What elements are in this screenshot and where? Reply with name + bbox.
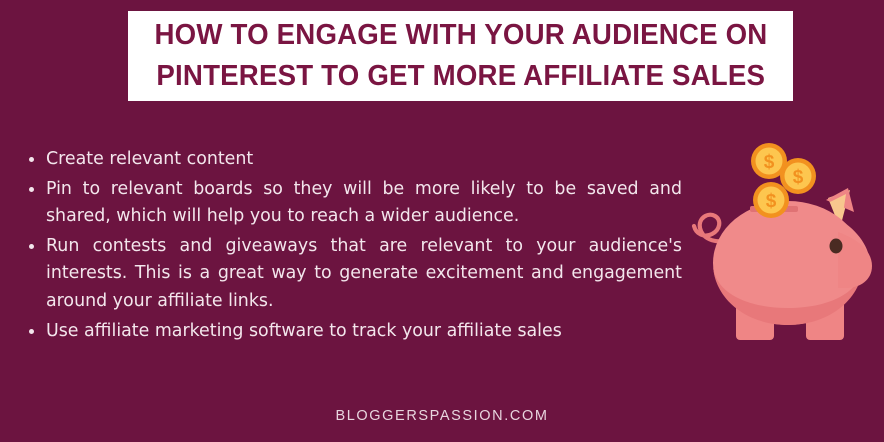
coin-icon: $ <box>753 182 789 218</box>
svg-text:$: $ <box>764 152 775 173</box>
list-item: Create relevant content <box>22 146 682 174</box>
coin-icon: $ <box>780 158 816 194</box>
svg-text:$: $ <box>793 167 804 188</box>
infographic-canvas: HOW TO ENGAGE WITH YOUR AUDIENCE ON PINT… <box>0 0 884 442</box>
list-item: Use affiliate marketing software to trac… <box>22 318 682 346</box>
svg-text:$: $ <box>766 191 777 212</box>
piggy-bank-illustration: $ $ $ <box>688 128 883 343</box>
title-line-1: HOW TO ENGAGE WITH YOUR AUDIENCE ON <box>154 15 767 56</box>
bullet-dot-icon <box>29 329 34 334</box>
list-item-text: Create relevant content <box>46 146 682 174</box>
list-item: Run contests and giveaways that are rele… <box>22 233 682 316</box>
title-line-2: PINTEREST TO GET MORE AFFILIATE SALES <box>156 56 765 97</box>
bullet-dot-icon <box>29 244 34 249</box>
bullet-dot-icon <box>29 157 34 162</box>
tips-bullet-list: Create relevant content Pin to relevant … <box>22 146 682 347</box>
footer-brand: BLOGGERSPASSION.COM <box>0 408 884 424</box>
list-item-text: Use affiliate marketing software to trac… <box>46 318 682 346</box>
title-banner: HOW TO ENGAGE WITH YOUR AUDIENCE ON PINT… <box>128 11 793 101</box>
list-item-text: Run contests and giveaways that are rele… <box>46 233 682 316</box>
piggy-eye-icon <box>830 239 843 254</box>
bullet-dot-icon <box>29 187 34 192</box>
list-item-text: Pin to relevant boards so they will be m… <box>46 176 682 231</box>
list-item: Pin to relevant boards so they will be m… <box>22 176 682 231</box>
